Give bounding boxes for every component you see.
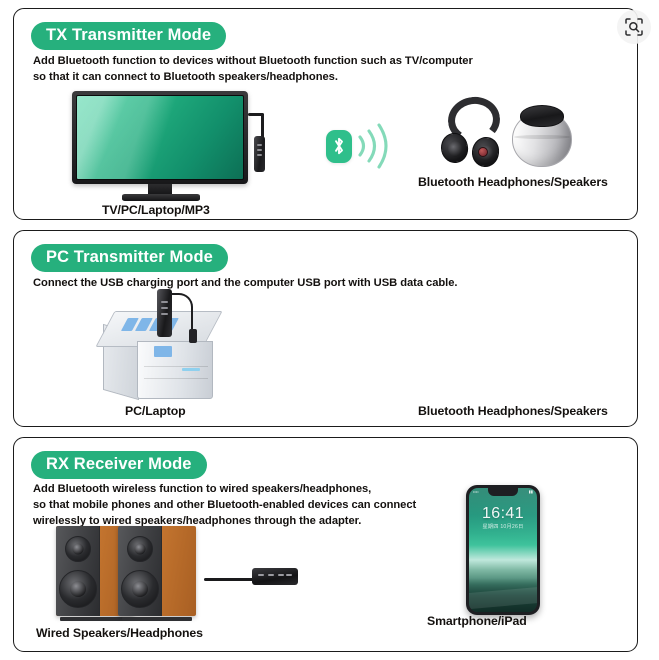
panel-description-pc: Connect the USB charging port and the co… — [33, 276, 457, 292]
bluetooth-receiver-dongle — [252, 568, 298, 585]
caption-rx-source: Wired Speakers/Headphones — [36, 626, 203, 640]
tv-screen — [76, 95, 244, 180]
phone-notch — [488, 488, 518, 496]
usb-data-cable — [171, 293, 193, 333]
speaker-foot — [122, 617, 192, 621]
phone-screen: •••• ▮▮ 16:41 星期四 10月26日 — [469, 488, 537, 612]
phone-wallpaper-landscape — [469, 578, 537, 612]
panel-description-tx: Add Bluetooth function to devices withou… — [33, 54, 473, 86]
bluetooth-adapter-dongle — [254, 136, 265, 172]
phone-status-left: •••• — [473, 489, 479, 494]
caption-pc-source: PC/Laptop — [125, 404, 186, 418]
bluetooth-headphones-illustration — [442, 97, 506, 169]
panel-badge-rx: RX Receiver Mode — [31, 451, 207, 479]
phone-lockscreen-date: 星期四 10月26日 — [469, 523, 537, 530]
speaker-baffle — [118, 526, 162, 616]
wired-speaker-right — [118, 526, 196, 618]
wired-speakers-illustration — [56, 526, 251, 621]
speaker-woofer — [59, 570, 97, 608]
speaker-tweeter — [65, 536, 91, 562]
visual-search-lens-icon — [624, 17, 644, 37]
phone-lockscreen-time: 16:41 — [469, 505, 537, 523]
visual-search-lens-button[interactable] — [617, 10, 651, 44]
caption-tx-target: Bluetooth Headphones/Speakers — [418, 175, 608, 189]
pc-front-panel — [137, 341, 213, 399]
tv-stand-base — [122, 194, 200, 201]
usb-plug — [189, 329, 197, 343]
speaker-baffle — [56, 526, 100, 616]
panel-pc-transmitter-mode: PC Transmitter Mode Connect the USB char… — [13, 230, 638, 427]
panel-description-rx: Add Bluetooth wireless function to wired… — [33, 482, 416, 530]
caption-rx-target: Smartphone/iPad — [427, 614, 527, 628]
tv-illustration — [72, 91, 262, 201]
panel-badge-pc: PC Transmitter Mode — [31, 244, 228, 272]
caption-pc-target: Bluetooth Headphones/Speakers — [418, 404, 608, 418]
smartphone-illustration: •••• ▮▮ 16:41 星期四 10月26日 — [466, 485, 540, 615]
phone-status-right: ▮▮ — [529, 489, 533, 494]
bluetooth-badge — [326, 130, 352, 163]
speaker-tweeter — [127, 536, 153, 562]
ball-speaker-seam — [514, 135, 570, 139]
bluetooth-ball-speaker-illustration — [512, 103, 572, 167]
panel-tx-transmitter-mode: TX Transmitter Mode Add Bluetooth functi… — [13, 8, 638, 220]
caption-tx-source: TV/PC/Laptop/MP3 — [102, 203, 210, 217]
tv-body — [72, 91, 248, 184]
bluetooth-icon — [332, 136, 346, 156]
pc-tower-illustration — [99, 289, 239, 399]
bluetooth-signal-group-tx — [326, 117, 394, 175]
ball-speaker-grille — [520, 105, 564, 127]
panel-badge-tx: TX Transmitter Mode — [31, 22, 226, 50]
panel-rx-receiver-mode: RX Receiver Mode Add Bluetooth wireless … — [13, 437, 638, 652]
dongle-cable-vertical — [261, 114, 264, 138]
speaker-woofer — [121, 570, 159, 608]
usb-bluetooth-dongle — [157, 289, 172, 337]
phone-body: •••• ▮▮ 16:41 星期四 10月26日 — [466, 485, 540, 615]
signal-waves — [356, 117, 394, 175]
headphone-logo-dot — [478, 147, 488, 157]
product-infographic-page: TX Transmitter Mode Add Bluetooth functi… — [0, 0, 659, 660]
audio-cable — [204, 578, 258, 581]
